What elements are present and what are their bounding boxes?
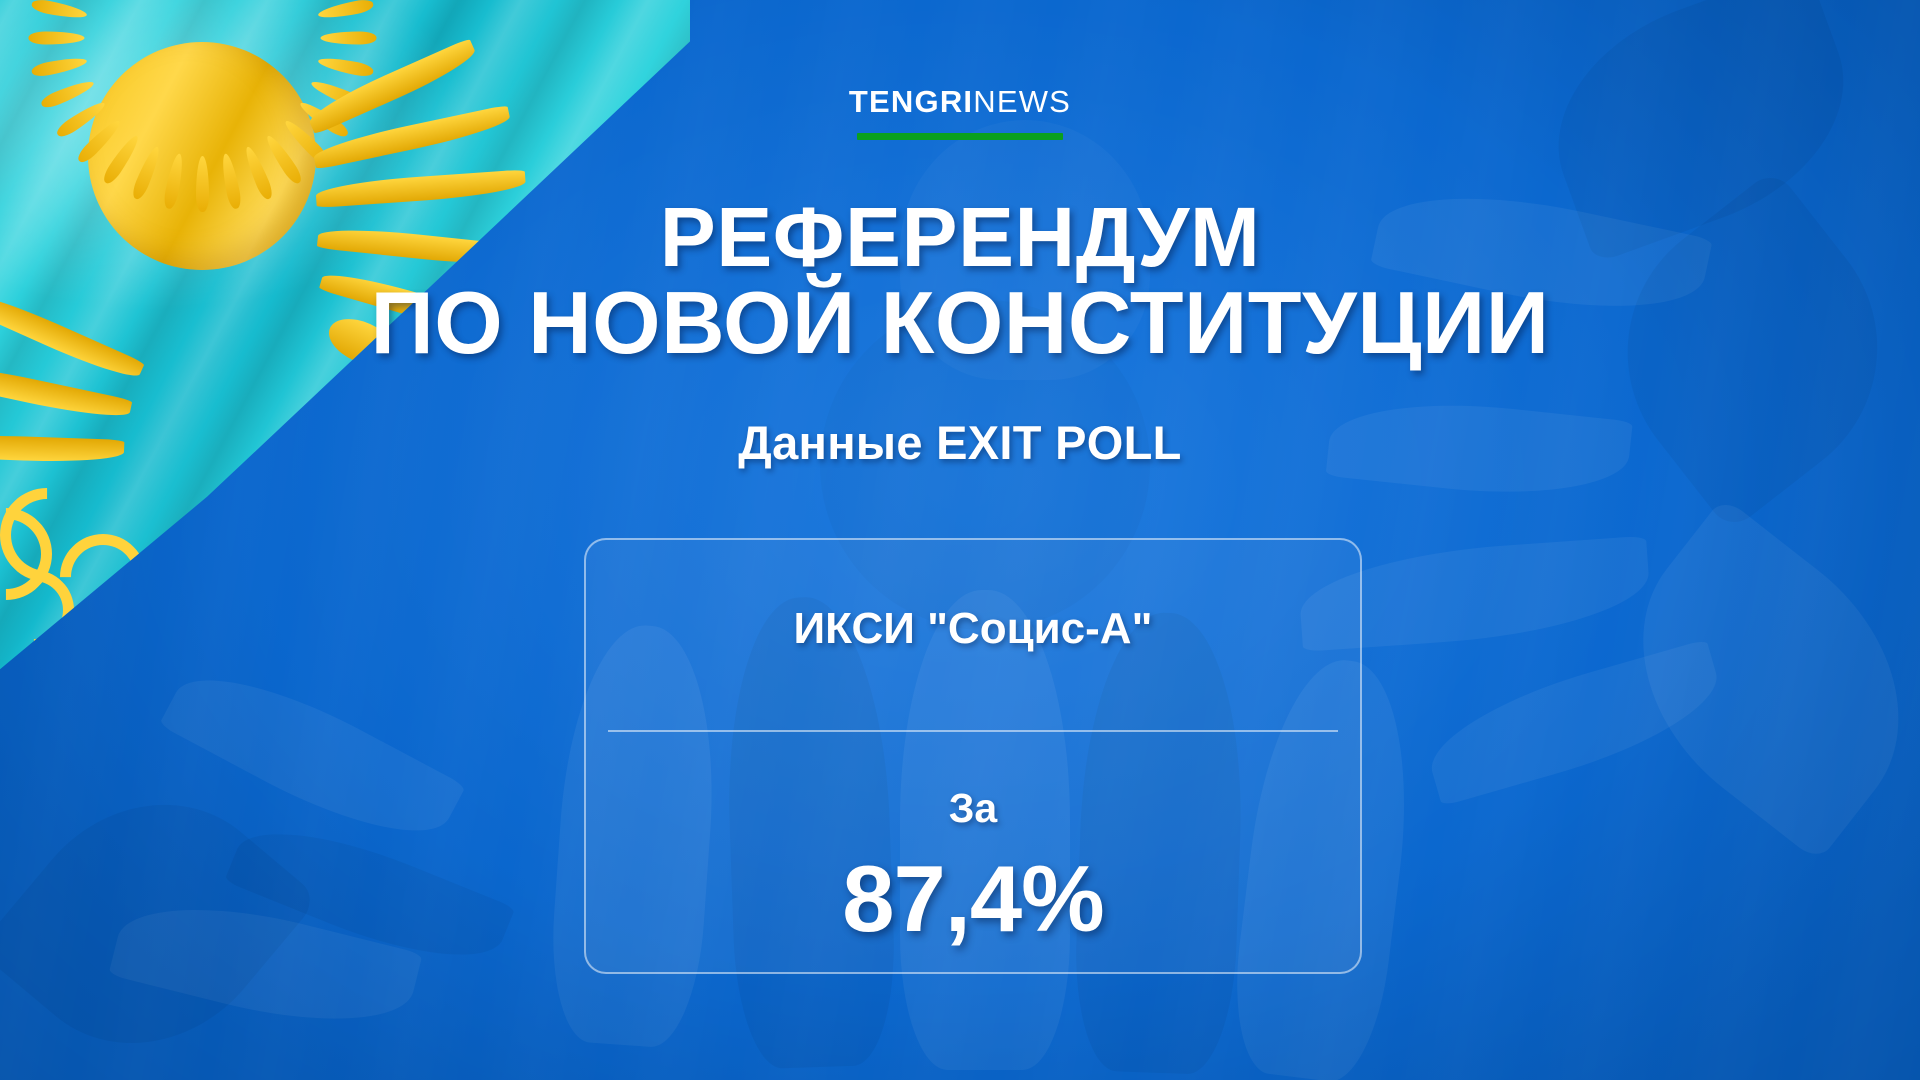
page-title: РЕФЕРЕНДУМ ПО НОВОЙ КОНСТИТУЦИИ — [0, 196, 1920, 366]
logo-light-text: NEWS — [973, 84, 1071, 119]
tengrinews-logo[interactable]: TENGRINEWS — [0, 86, 1920, 140]
pollster-name: ИКСИ "Социс-А" — [586, 604, 1360, 654]
logo-bold-text: TENGRI — [849, 84, 973, 119]
card-divider — [608, 730, 1338, 732]
answer-label: За — [586, 785, 1360, 832]
infographic-canvas: TENGRINEWS РЕФЕРЕНДУМ ПО НОВОЙ КОНСТИТУЦ… — [0, 0, 1920, 1080]
answer-percentage: 87,4% — [586, 845, 1360, 953]
page-subtitle: Данные EXIT POLL — [0, 415, 1920, 470]
headline-line-2: ПО НОВОЙ КОНСТИТУЦИИ — [0, 279, 1920, 366]
logo-wordmark: TENGRINEWS — [0, 86, 1920, 117]
headline-line-1: РЕФЕРЕНДУМ — [0, 196, 1920, 279]
exit-poll-result-card: ИКСИ "Социс-А" За 87,4% — [584, 538, 1362, 974]
logo-green-bar — [857, 133, 1063, 140]
